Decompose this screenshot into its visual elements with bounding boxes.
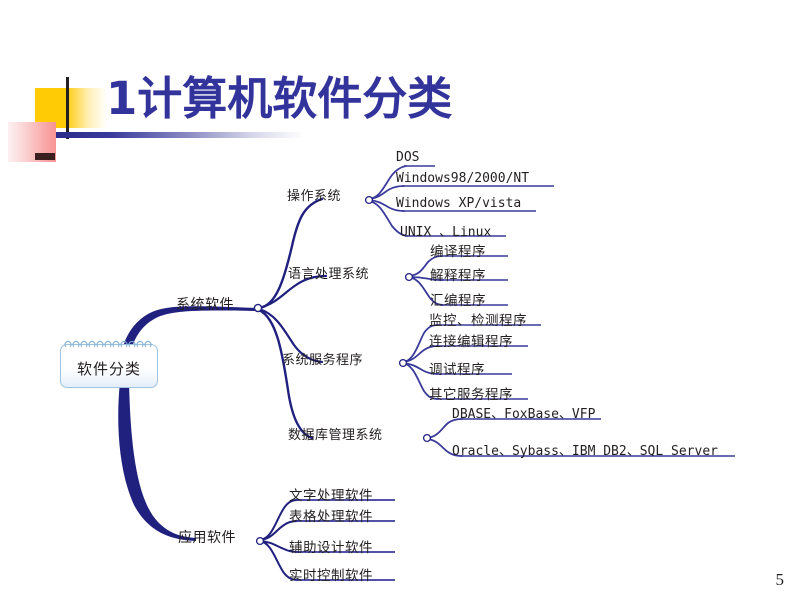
leaf-monitor-detection-program[interactable]: 监控、检测程序 bbox=[429, 309, 527, 329]
leaf-debug-program[interactable]: 调试程序 bbox=[429, 358, 485, 378]
junction-dot-language-system bbox=[406, 274, 413, 281]
junction-dot-database-system bbox=[424, 435, 431, 442]
leaf-cad-software[interactable]: 辅助设计软件 bbox=[289, 536, 373, 556]
junction-dot-operating-system bbox=[366, 197, 373, 204]
node-operating-system[interactable]: 操作系统 bbox=[287, 185, 341, 204]
notepad-spiral-icon bbox=[62, 340, 156, 348]
leaf-unix-linux[interactable]: UNIX 、Linux bbox=[400, 221, 491, 240]
junction-dot-system-software bbox=[254, 304, 261, 311]
page-number: 5 bbox=[776, 570, 785, 590]
leaf-spreadsheet-software[interactable]: 表格处理软件 bbox=[289, 505, 373, 525]
leaf-windows98[interactable]: Windows98/2000/NT bbox=[396, 171, 529, 186]
node-system-service-program[interactable]: 系统服务程序 bbox=[282, 349, 363, 368]
connector-system-to-os bbox=[259, 199, 322, 308]
leaf-dos[interactable]: DOS bbox=[396, 150, 419, 165]
leaf-dbase-foxbase-vfp[interactable]: DBASE、FoxBase、VFP bbox=[452, 403, 595, 422]
junction-dot-service-program bbox=[400, 360, 407, 367]
leaf-oracle-sybass-db2-sqlserver[interactable]: Oracle、Sybass、IBM DB2、SQL Server bbox=[452, 440, 718, 459]
node-application-software[interactable]: 应用软件 bbox=[178, 527, 236, 547]
leaf-windows-xp-vista[interactable]: Windows XP/vista bbox=[396, 196, 521, 211]
leaf-interpreter[interactable]: 解释程序 bbox=[430, 264, 486, 284]
leaf-compiler[interactable]: 编译程序 bbox=[430, 240, 486, 260]
node-language-processing-system[interactable]: 语言处理系统 bbox=[288, 263, 369, 282]
mindmap-root-node[interactable]: 软件分类 bbox=[60, 344, 158, 388]
connector-system-to-database bbox=[259, 310, 312, 438]
slide-canvas: 1计算机软件分类 bbox=[0, 0, 800, 600]
leaf-assembler[interactable]: 汇编程序 bbox=[430, 289, 486, 309]
node-system-software[interactable]: 系统软件 bbox=[176, 294, 234, 314]
leaf-word-processing-software[interactable]: 文字处理软件 bbox=[289, 484, 373, 504]
leaf-link-edit-program[interactable]: 连接编辑程序 bbox=[429, 330, 513, 350]
leaf-realtime-control-software[interactable]: 实时控制软件 bbox=[289, 564, 373, 584]
mindmap-connectors bbox=[0, 0, 800, 600]
mindmap-root-label: 软件分类 bbox=[77, 354, 141, 379]
node-database-management-system[interactable]: 数据库管理系统 bbox=[288, 424, 383, 443]
leaf-other-service-program[interactable]: 其它服务程序 bbox=[429, 383, 513, 403]
trunk-application-software bbox=[118, 382, 196, 541]
junction-dot-application-software bbox=[257, 538, 264, 545]
mindmap-diagram: 软件分类 系统软件 应用软件 操作系统 语言处理系统 系统服务程序 数据 bbox=[0, 0, 800, 600]
